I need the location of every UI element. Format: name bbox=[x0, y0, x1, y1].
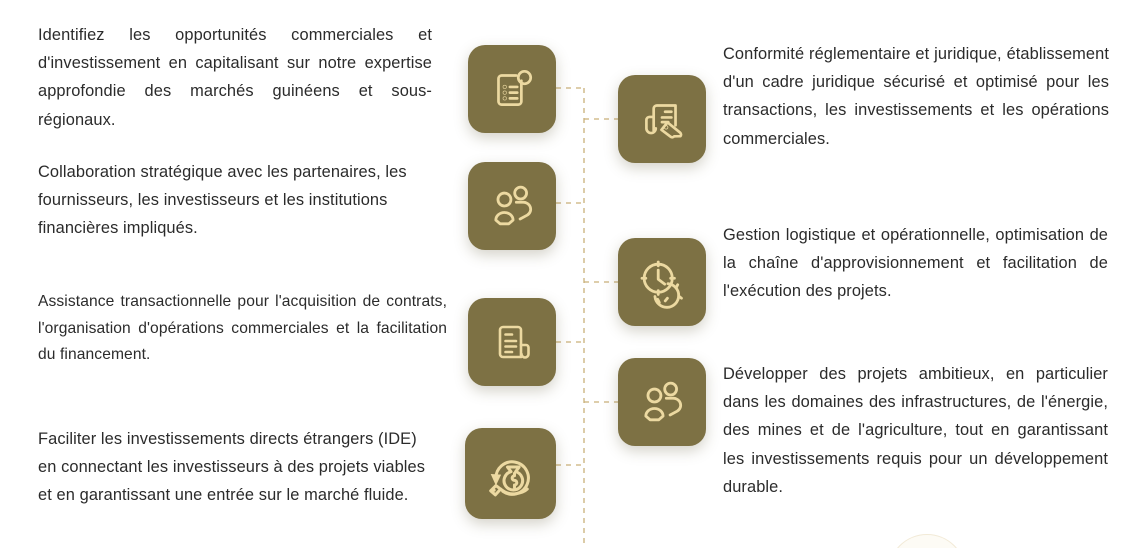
icon-tile-right-2[interactable] bbox=[618, 238, 706, 326]
document-price-tag-icon bbox=[636, 93, 688, 145]
icon-tile-right-1[interactable] bbox=[618, 75, 706, 163]
left-description-3: Assistance transactionnelle pour l'acqui… bbox=[38, 289, 447, 369]
left-description-1: Identifiez les opportunités commerciales… bbox=[38, 21, 432, 134]
people-group-icon bbox=[485, 179, 539, 233]
right-description-2: Gestion logistique et opérationnelle, op… bbox=[723, 221, 1108, 306]
infographic-canvas: Identifiez les opportunités commerciales… bbox=[0, 0, 1146, 548]
right-description-1: Conformité réglementaire et juridique, é… bbox=[723, 40, 1109, 153]
left-description-2: Collaboration stratégique avec les parte… bbox=[38, 158, 448, 243]
right-description-3: Développer des projets ambitieux, en par… bbox=[723, 360, 1108, 501]
icon-tile-left-1[interactable] bbox=[468, 45, 556, 133]
decorative-circle-watermark bbox=[888, 534, 966, 548]
hand-money-bag-return-icon bbox=[482, 445, 540, 503]
icon-tile-left-3[interactable] bbox=[468, 298, 556, 386]
left-description-4: Faciliter les investissements directs ét… bbox=[38, 425, 438, 510]
icon-tile-right-3[interactable] bbox=[618, 358, 706, 446]
clipboard-list-search-icon bbox=[486, 63, 538, 115]
icon-tile-left-2[interactable] bbox=[468, 162, 556, 250]
document-receipt-icon bbox=[487, 317, 537, 367]
people-group-icon bbox=[635, 375, 689, 429]
double-clock-icon bbox=[635, 255, 689, 309]
icon-tile-left-4[interactable] bbox=[465, 428, 556, 519]
